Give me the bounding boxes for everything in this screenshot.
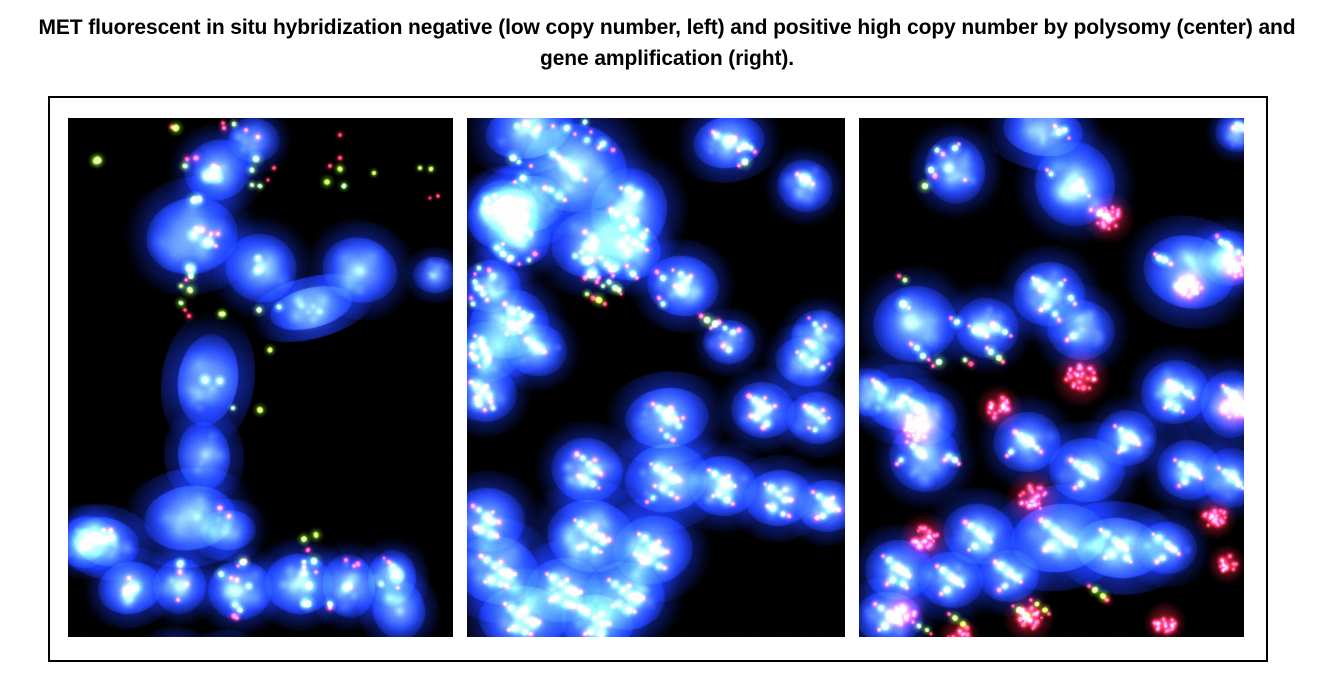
figure-frame — [48, 96, 1268, 662]
micrograph-panel-strip — [68, 118, 1246, 637]
fish-image-polysomy — [467, 118, 845, 637]
fish-panel-polysomy[interactable] — [467, 118, 845, 637]
fish-panel-amplification[interactable] — [859, 118, 1244, 637]
fish-image-negative — [68, 118, 453, 637]
fish-image-amplification — [859, 118, 1244, 637]
figure-root: MET fluorescent in situ hybridization ne… — [0, 0, 1331, 696]
fish-panel-negative[interactable] — [68, 118, 453, 637]
figure-caption: MET fluorescent in situ hybridization ne… — [22, 12, 1312, 74]
